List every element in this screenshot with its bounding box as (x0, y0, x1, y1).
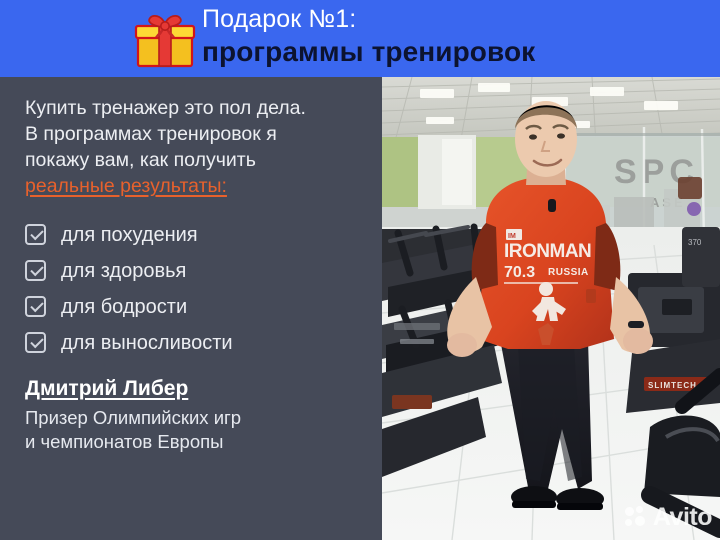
svg-text:IRONMAN: IRONMAN (504, 241, 591, 262)
list-item: для похудения (25, 218, 382, 251)
intro-line-3: покажу вам, как получить (25, 147, 382, 173)
checkbox-checked-icon (25, 260, 46, 281)
checkbox-checked-icon (25, 332, 46, 353)
list-item-label: для бодрости (61, 295, 187, 319)
list-item-label: для здоровья (61, 259, 186, 283)
gym-photo: SPC ASE (382, 77, 720, 540)
checkbox-checked-icon (25, 224, 46, 245)
author-credentials: Призер Олимпийских игр и чемпионатов Евр… (25, 406, 382, 454)
svg-text:SLIMTECH: SLIMTECH (648, 381, 697, 390)
intro-paragraph: Купить тренажер это пол дела. В программ… (25, 95, 382, 199)
svg-text:IM: IM (508, 233, 516, 240)
svg-text:370: 370 (688, 238, 702, 247)
intro-line-2: В программах тренировок я (25, 121, 382, 147)
author-credentials-line-2: и чемпионатов Европы (25, 430, 382, 454)
avito-brand-text: Avito (653, 505, 712, 530)
header-banner: Подарок №1: программы тренировок (0, 0, 720, 77)
list-item: для бодрости (25, 290, 382, 323)
header-line-2: программы тренировок (202, 34, 535, 70)
list-item-label: для выносливости (61, 331, 233, 355)
checkbox-checked-icon (25, 296, 46, 317)
author-credentials-line-1: Призер Олимпийских игр (25, 406, 382, 430)
intro-line-1: Купить тренажер это пол дела. (25, 95, 382, 121)
avito-dots-icon (625, 506, 648, 529)
benefits-checklist: для похудения для здоровья для бодрости … (25, 218, 382, 359)
gift-box-icon (134, 7, 196, 69)
avito-watermark: Avito (625, 505, 712, 530)
list-item: для здоровья (25, 254, 382, 287)
list-item-label: для похудения (61, 223, 198, 247)
highlight-text: реальные результаты: (25, 173, 227, 199)
author-name: Дмитрий Либер (25, 375, 382, 402)
info-panel: Купить тренажер это пол дела. В программ… (0, 77, 382, 540)
svg-text:70.3: 70.3 (504, 264, 535, 281)
author-signature: Дмитрий Либер Призер Олимпийских игр и ч… (25, 375, 382, 454)
advertisement-card: Подарок №1: программы тренировок Купить … (0, 0, 720, 540)
header-line-1: Подарок №1: (202, 4, 535, 34)
header-text-block: Подарок №1: программы тренировок (202, 4, 535, 70)
svg-text:RUSSIA: RUSSIA (548, 267, 589, 278)
list-item: для выносливости (25, 326, 382, 359)
